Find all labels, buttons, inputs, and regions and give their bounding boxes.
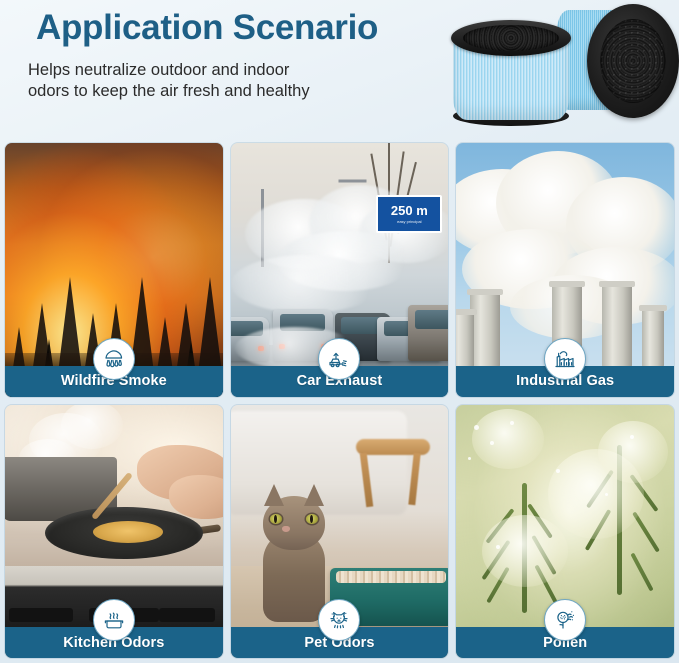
smoke-flames-icon xyxy=(93,338,135,380)
scenario-tile-pet-odors[interactable]: Pet Odors xyxy=(231,405,449,659)
scenario-tile-wildfire-smoke[interactable]: Wildfire Smoke xyxy=(5,143,223,397)
scenario-grid: Wildfire Smoke 250 m easy principal xyxy=(5,143,674,658)
factory-icon xyxy=(544,338,586,380)
road-sign: 250 m easy principal xyxy=(376,195,442,233)
filter-front-carbon-rim xyxy=(451,20,571,56)
cat-face-icon xyxy=(318,599,360,641)
pollen-dandelion-icon xyxy=(544,599,586,641)
page-subtitle: Helps neutralize outdoor and indoor odor… xyxy=(28,60,310,102)
header: Application Scenario Helps neutralize ou… xyxy=(0,0,679,140)
scenario-tile-pollen[interactable]: Pollen xyxy=(456,405,674,659)
steaming-pot-icon xyxy=(93,599,135,641)
scenario-tile-car-exhaust[interactable]: 250 m easy principal xyxy=(231,143,449,397)
product-filter-image xyxy=(439,0,679,140)
scenario-tile-industrial-gas[interactable]: Industrial Gas xyxy=(456,143,674,397)
filter-front xyxy=(445,14,577,132)
car-exhaust-icon xyxy=(318,338,360,380)
road-sign-subtext: easy principal xyxy=(397,220,421,224)
cat xyxy=(255,486,333,622)
filter-back-carbon-face xyxy=(587,4,679,118)
scenario-tile-kitchen-odors[interactable]: Kitchen Odors xyxy=(5,405,223,659)
application-scenario-page: Application Scenario Helps neutralize ou… xyxy=(0,0,679,663)
road-sign-text: 250 m xyxy=(391,204,428,217)
page-title: Application Scenario xyxy=(36,8,378,48)
